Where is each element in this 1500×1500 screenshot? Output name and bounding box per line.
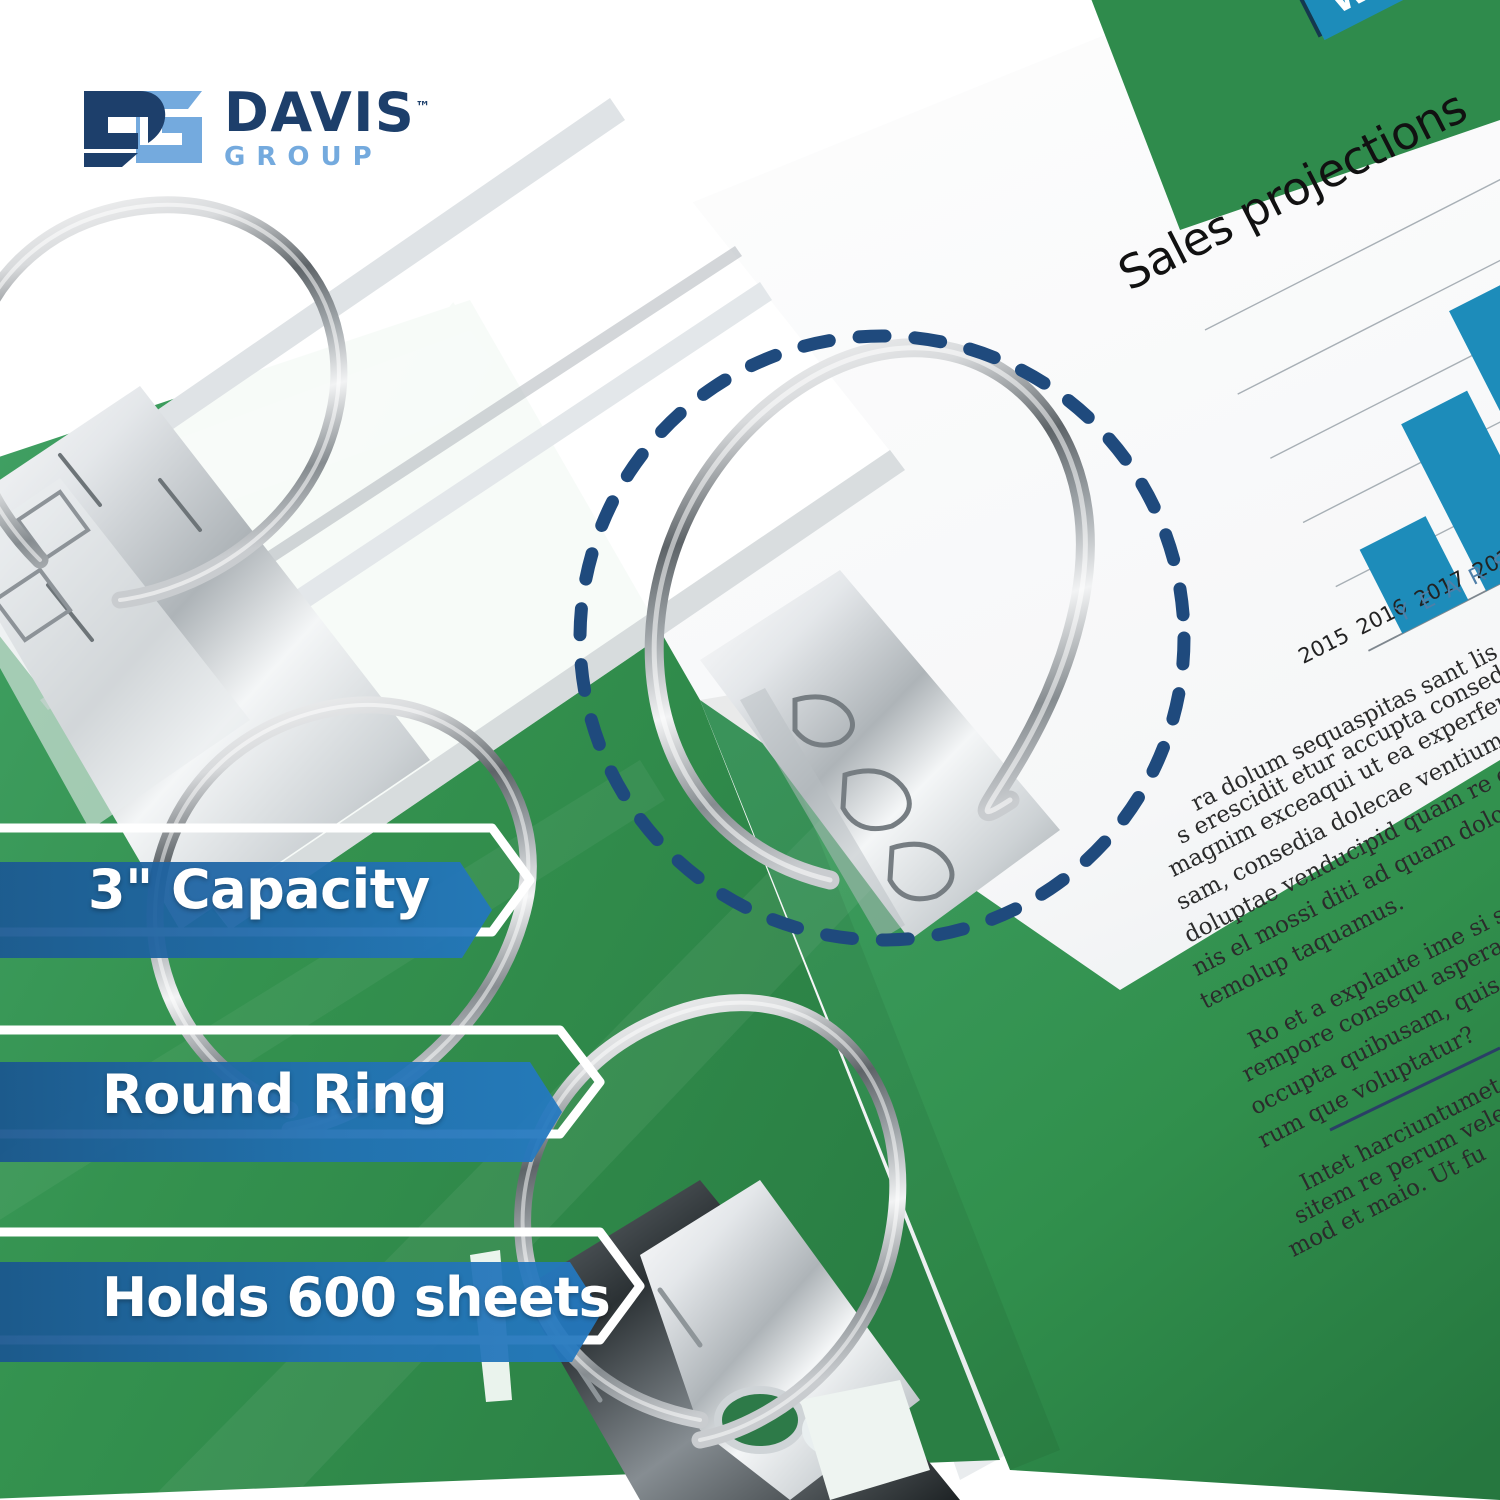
dg-monogram-icon <box>78 87 206 167</box>
badge-sheet-capacity-label: Holds 600 sheets <box>102 1266 610 1329</box>
brand-logo: DAVIS™ GROUP <box>78 72 478 182</box>
badge-capacity: 3" Capacity <box>0 812 610 972</box>
brand-subtitle: GROUP <box>224 144 430 170</box>
product-marketing-image: 3" Capacity Round Ring Holds 600 sheets … <box>0 0 1500 1500</box>
badge-ring-type-label: Round Ring <box>102 1063 447 1126</box>
brand-wordmark: DAVIS™ GROUP <box>224 84 430 170</box>
trademark-icon: ™ <box>415 98 430 116</box>
badge-ring-type: Round Ring <box>0 1015 670 1185</box>
brand-name: DAVIS™ <box>224 86 430 140</box>
badge-sheet-capacity: Holds 600 sheets <box>0 1218 710 1388</box>
badge-capacity-label: 3" Capacity <box>88 858 430 921</box>
brand-name-text: DAVIS <box>224 81 415 144</box>
